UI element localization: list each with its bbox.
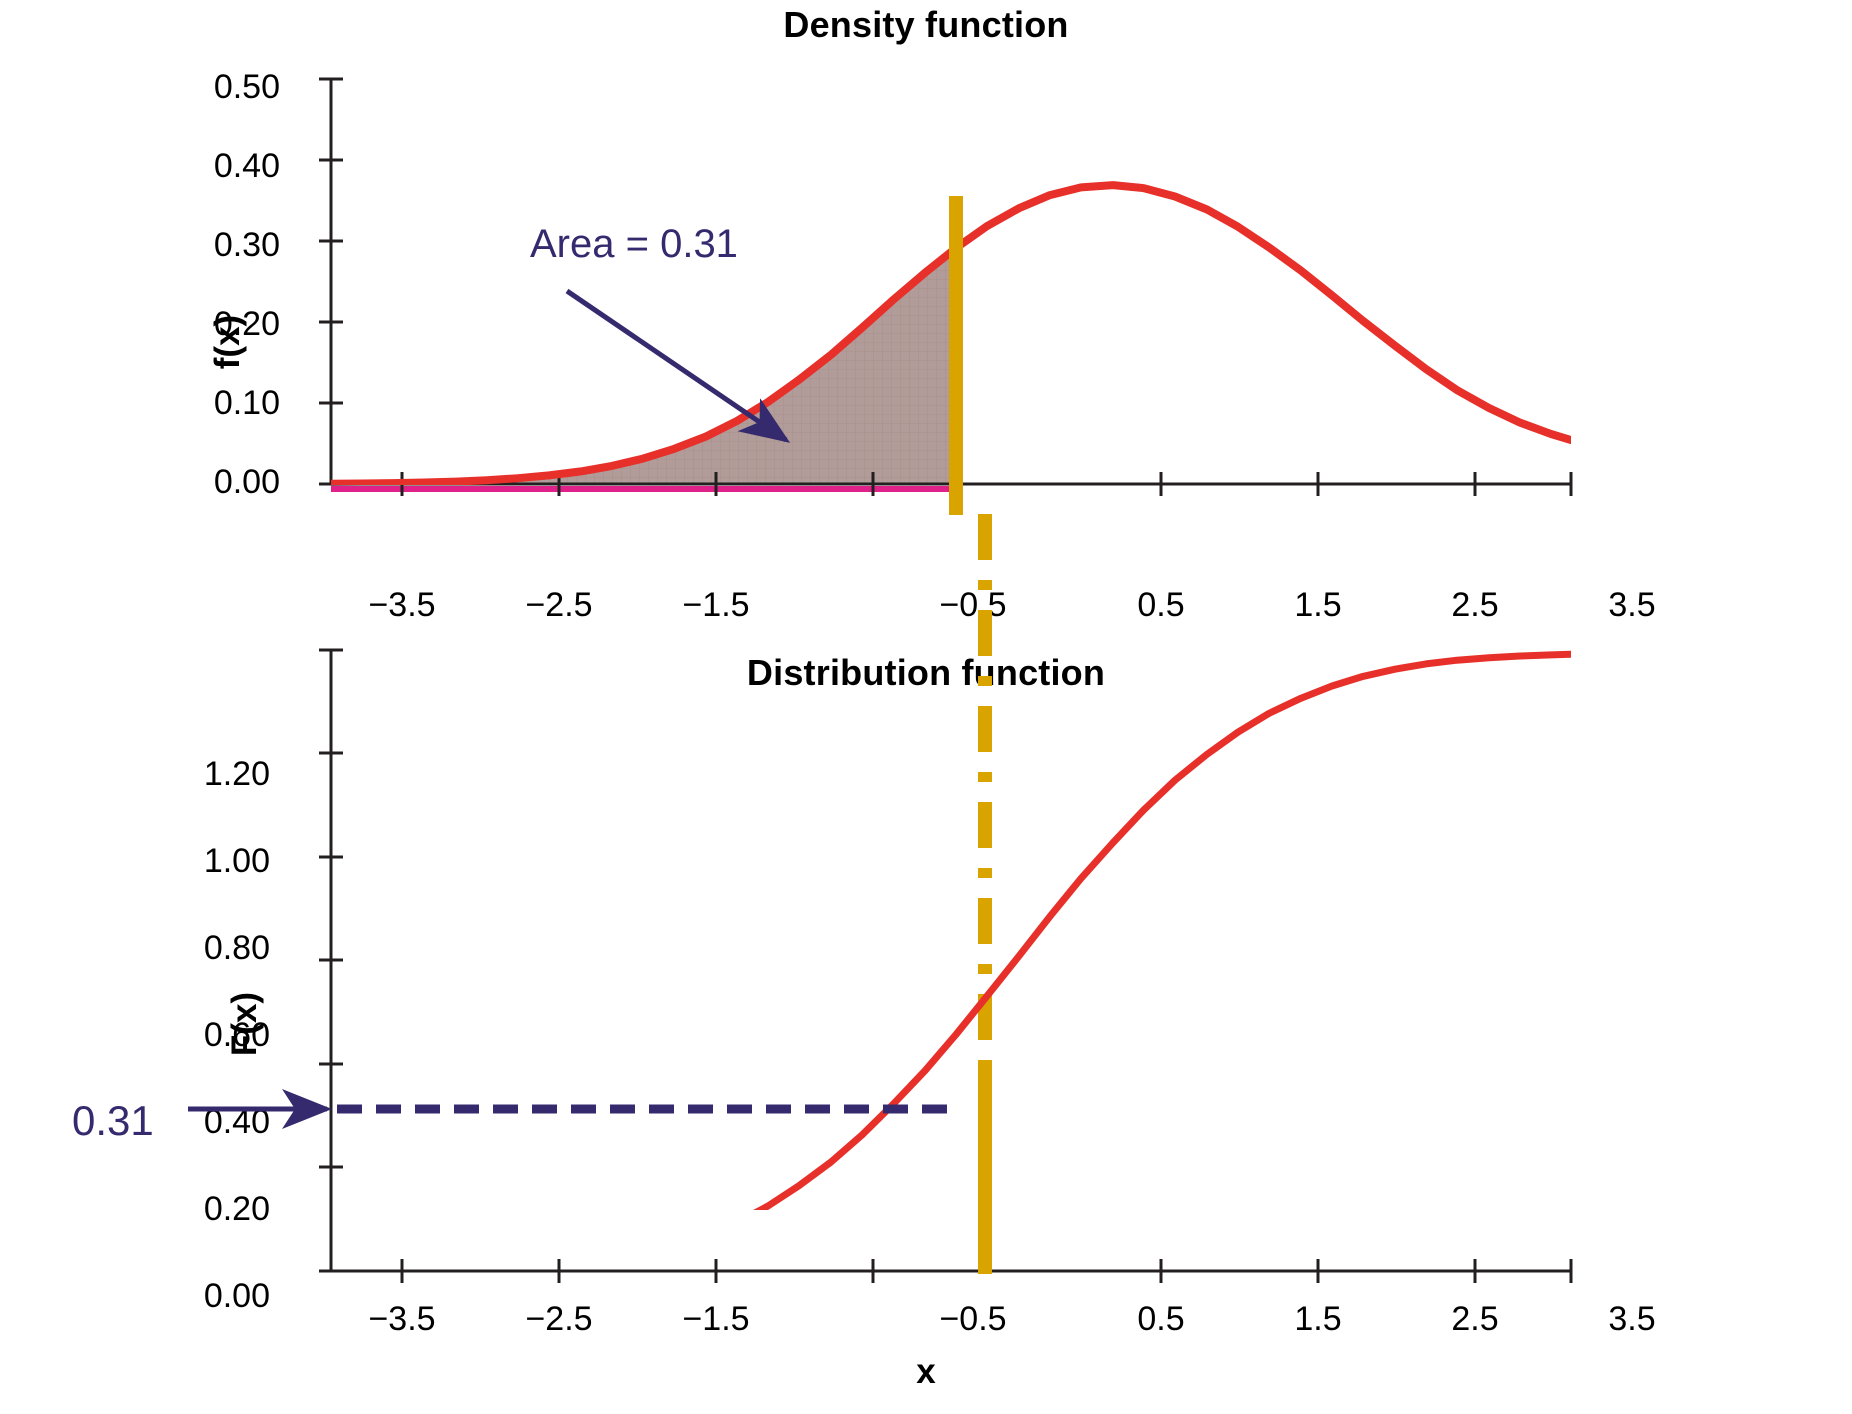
density-panel: [319, 79, 1571, 515]
figure-container: Density function Distribution function f…: [0, 0, 1852, 1414]
shaded-area-region: [331, 248, 956, 484]
area-annotation-arrow: [567, 291, 786, 440]
distribution-curve: [331, 654, 1571, 1271]
distribution-panel: [188, 650, 1571, 1283]
plot-graphics: [0, 0, 1852, 1414]
